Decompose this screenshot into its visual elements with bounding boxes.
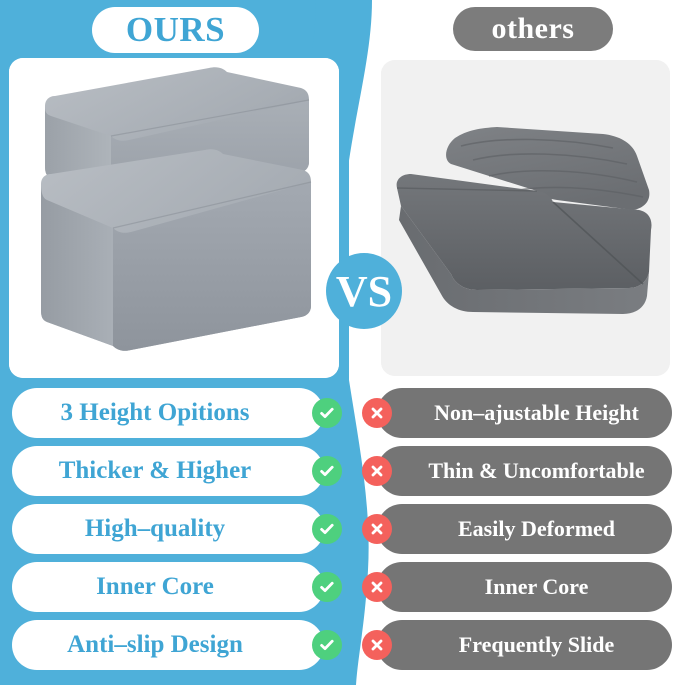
ours-feature-label: High–quality: [85, 515, 251, 543]
others-feature-pill[interactable]: Inner Core: [377, 562, 672, 612]
others-feature-label: Frequently Slide: [435, 632, 614, 658]
ours-feature-label: Thicker & Higher: [59, 457, 278, 485]
cross-icon: [362, 456, 392, 486]
ours-feature-pill[interactable]: Inner Core: [12, 562, 324, 612]
inflatable-wedge-pillow-image: [381, 60, 670, 376]
ours-feature-pill[interactable]: Thicker & Higher: [12, 446, 324, 496]
ours-feature-pill[interactable]: 3 Height Opitions: [12, 388, 324, 438]
ours-badge: OURS: [92, 7, 259, 53]
comparison-infographic: OURS others: [0, 0, 679, 685]
list-item[interactable]: Anti–slip Design: [0, 620, 350, 670]
check-icon: [312, 514, 342, 544]
others-feature-list: Non–ajustable Height Thin & Uncomfortabl…: [360, 388, 679, 678]
ours-badge-label: OURS: [126, 10, 225, 50]
check-icon: [312, 630, 342, 660]
stacked-foam-pillow-image: [9, 58, 339, 378]
list-item[interactable]: Non–ajustable Height: [360, 388, 679, 438]
cross-icon: [362, 630, 392, 660]
check-icon: [312, 398, 342, 428]
others-feature-pill[interactable]: Easily Deformed: [377, 504, 672, 554]
cross-icon: [362, 572, 392, 602]
others-badge: others: [453, 7, 613, 51]
list-item[interactable]: High–quality: [0, 504, 350, 554]
list-item[interactable]: Thicker & Higher: [0, 446, 350, 496]
ours-feature-list: 3 Height Opitions Thicker & Higher High–…: [0, 388, 350, 678]
ours-product-card: [9, 58, 339, 378]
cross-icon: [362, 514, 392, 544]
list-item[interactable]: Thin & Uncomfortable: [360, 446, 679, 496]
list-item[interactable]: Easily Deformed: [360, 504, 679, 554]
ours-feature-label: Inner Core: [96, 573, 240, 601]
vs-badge: VS: [326, 253, 402, 329]
others-feature-label: Non–ajustable Height: [410, 400, 639, 426]
others-product-card: [381, 60, 670, 376]
others-feature-label: Easily Deformed: [434, 516, 615, 542]
check-icon: [312, 572, 342, 602]
list-item[interactable]: Frequently Slide: [360, 620, 679, 670]
others-feature-label: Thin & Uncomfortable: [404, 458, 644, 484]
ours-feature-pill[interactable]: High–quality: [12, 504, 324, 554]
list-item[interactable]: Inner Core: [0, 562, 350, 612]
others-feature-pill[interactable]: Thin & Uncomfortable: [377, 446, 672, 496]
vs-label: VS: [336, 266, 392, 317]
others-badge-label: others: [492, 12, 575, 46]
others-feature-pill[interactable]: Non–ajustable Height: [377, 388, 672, 438]
list-item[interactable]: 3 Height Opitions: [0, 388, 350, 438]
check-icon: [312, 456, 342, 486]
others-feature-label: Inner Core: [461, 574, 589, 600]
ours-feature-label: 3 Height Opitions: [61, 399, 276, 427]
ours-feature-pill[interactable]: Anti–slip Design: [12, 620, 324, 670]
others-feature-pill[interactable]: Frequently Slide: [377, 620, 672, 670]
ours-feature-label: Anti–slip Design: [67, 631, 269, 659]
list-item[interactable]: Inner Core: [360, 562, 679, 612]
cross-icon: [362, 398, 392, 428]
